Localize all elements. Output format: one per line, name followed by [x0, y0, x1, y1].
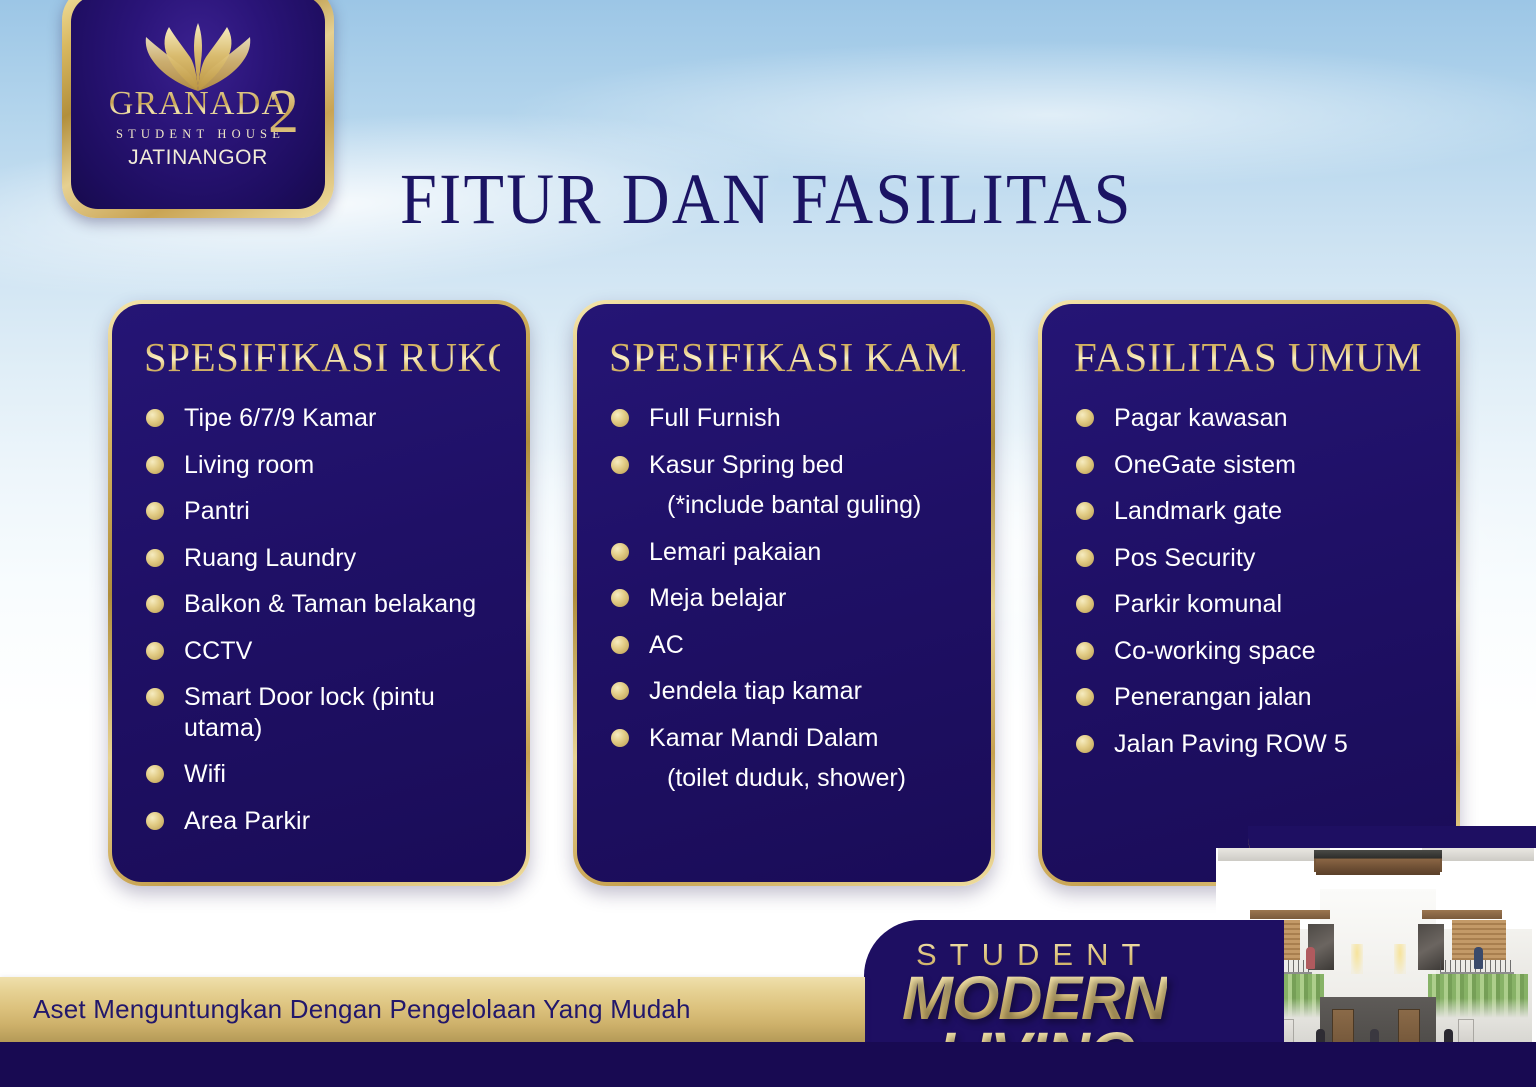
bullet-dot-icon	[146, 765, 164, 783]
list-item: Living room	[138, 450, 500, 481]
list-item-label: Lemari pakaian	[649, 537, 821, 568]
bullet-dot-icon	[146, 642, 164, 660]
bullet-dot-icon	[146, 812, 164, 830]
list-item: Ruang Laundry	[138, 543, 500, 574]
list-item-label: Kasur Spring bed	[649, 450, 844, 481]
bullet-dot-icon	[611, 456, 629, 474]
bullet-dot-icon	[611, 682, 629, 700]
list-item-label: Wifi	[184, 759, 226, 790]
brand-number: 2	[268, 81, 299, 143]
brand-name: GRANADA	[109, 87, 287, 121]
list-item-label: Jendela tiap kamar	[649, 676, 862, 707]
list-item-label: Meja belajar	[649, 583, 786, 614]
card-item-list: Pagar kawasan OneGate sistem Landmark ga…	[1068, 403, 1430, 759]
bullet-dot-icon	[611, 409, 629, 427]
list-item: Pos Security	[1068, 543, 1430, 574]
list-item-label: Kamar Mandi Dalam	[649, 723, 879, 754]
page-title: FITUR DAN FASILITAS	[400, 158, 1133, 241]
list-item: Jalan Paving ROW 5	[1068, 729, 1430, 760]
list-item-note: (toilet duduk, shower)	[667, 763, 965, 794]
card-item-list: Tipe 6/7/9 Kamar Living room Pantri Ruan…	[138, 403, 500, 836]
list-item: Pantri	[138, 496, 500, 527]
list-item: Tipe 6/7/9 Kamar	[138, 403, 500, 434]
list-item: Pagar kawasan	[1068, 403, 1430, 434]
list-item: Penerangan jalan	[1068, 682, 1430, 713]
render-wall-lamp	[1351, 944, 1363, 974]
tagline-banner: Aset Menguntungkan Dengan Pengelolaan Ya…	[0, 977, 865, 1042]
list-item: Parkir komunal	[1068, 589, 1430, 620]
list-item: Area Parkir	[138, 806, 500, 837]
list-item: AC	[603, 630, 965, 661]
render-right-vines	[1428, 974, 1528, 1018]
list-item-note: (*include bantal guling)	[667, 490, 965, 521]
list-item-label: Full Furnish	[649, 403, 781, 434]
list-item-label: Tipe 6/7/9 Kamar	[184, 403, 376, 434]
card-body: FASILITAS UMUM Pagar kawasan OneGate sis…	[1042, 304, 1456, 882]
list-item: Balkon & Taman belakang	[138, 589, 500, 620]
list-item-label: Smart Door lock (pintu utama)	[184, 682, 500, 743]
bullet-dot-icon	[1076, 688, 1094, 706]
render-wall-lamp	[1394, 944, 1406, 974]
list-item-label: Pantri	[184, 496, 250, 527]
list-item: Smart Door lock (pintu utama)	[138, 682, 500, 743]
list-item: Kasur Spring bed	[603, 450, 965, 481]
bullet-dot-icon	[1076, 642, 1094, 660]
card-title: SPESIFIKASI RUKOS	[144, 336, 500, 379]
bullet-dot-icon	[611, 636, 629, 654]
slide-canvas: GRANADA STUDENT HOUSE JATINANGOR 2 FITUR…	[0, 0, 1536, 1087]
list-item-label: Balkon & Taman belakang	[184, 589, 476, 620]
list-item: Full Furnish	[603, 403, 965, 434]
bullet-dot-icon	[146, 502, 164, 520]
card-body: SPESIFIKASI KAMAR Full Furnish Kasur Spr…	[577, 304, 991, 882]
list-item: Lemari pakaian	[603, 537, 965, 568]
gold-lotus-feather-emblem	[133, 17, 263, 93]
list-item: Meja belajar	[603, 583, 965, 614]
card-title: FASILITAS UMUM	[1074, 336, 1430, 379]
list-item: Wifi	[138, 759, 500, 790]
brand-city: JATINANGOR	[71, 147, 325, 168]
render-left-awning	[1250, 910, 1330, 919]
list-item-label: Jalan Paving ROW 5	[1114, 729, 1348, 760]
bullet-dot-icon	[1076, 735, 1094, 753]
list-item: CCTV	[138, 636, 500, 667]
bullet-dot-icon	[611, 729, 629, 747]
bullet-dot-icon	[146, 456, 164, 474]
list-item: Kamar Mandi Dalam	[603, 723, 965, 754]
list-item-label: Living room	[184, 450, 314, 481]
list-item: Co-working space	[1068, 636, 1430, 667]
card-item-list: Full Furnish Kasur Spring bed (*include …	[603, 403, 965, 794]
list-item-label: Ruang Laundry	[184, 543, 356, 574]
bullet-dot-icon	[146, 595, 164, 613]
card-body: SPESIFIKASI RUKOS Tipe 6/7/9 Kamar Livin…	[112, 304, 526, 882]
tagline-text: Aset Menguntungkan Dengan Pengelolaan Ya…	[33, 994, 691, 1025]
list-item-label: Pagar kawasan	[1114, 403, 1288, 434]
bullet-dot-icon	[1076, 409, 1094, 427]
brand-logo-panel: GRANADA STUDENT HOUSE JATINANGOR 2	[71, 0, 325, 209]
list-item-label: CCTV	[184, 636, 252, 667]
bullet-dot-icon	[1076, 502, 1094, 520]
list-item-label: OneGate sistem	[1114, 450, 1296, 481]
list-item-label: Landmark gate	[1114, 496, 1282, 527]
bullet-dot-icon	[611, 589, 629, 607]
bullet-dot-icon	[1076, 549, 1094, 567]
list-item: OneGate sistem	[1068, 450, 1430, 481]
list-item: Landmark gate	[1068, 496, 1430, 527]
card-spesifikasi-kamar: SPESIFIKASI KAMAR Full Furnish Kasur Spr…	[573, 300, 995, 886]
list-item: Jendela tiap kamar	[603, 676, 965, 707]
bullet-dot-icon	[611, 543, 629, 561]
list-item-label: AC	[649, 630, 684, 661]
list-item-label: Parkir komunal	[1114, 589, 1282, 620]
render-person	[1474, 947, 1483, 969]
card-spesifikasi-rukos: SPESIFIKASI RUKOS Tipe 6/7/9 Kamar Livin…	[108, 300, 530, 886]
card-fasilitas-umum: FASILITAS UMUM Pagar kawasan OneGate sis…	[1038, 300, 1460, 886]
list-item-label: Penerangan jalan	[1114, 682, 1312, 713]
card-title: SPESIFIKASI KAMAR	[609, 336, 965, 379]
list-item-label: Area Parkir	[184, 806, 310, 837]
list-item-label: Co-working space	[1114, 636, 1316, 667]
render-canopy-wood	[1316, 859, 1440, 875]
brand-logo-badge: GRANADA STUDENT HOUSE JATINANGOR 2	[62, 0, 334, 218]
feature-cards-row: SPESIFIKASI RUKOS Tipe 6/7/9 Kamar Livin…	[108, 300, 1460, 886]
bottom-navy-strip	[0, 1042, 1536, 1087]
render-right-awning	[1422, 910, 1502, 919]
bullet-dot-icon	[1076, 595, 1094, 613]
bullet-dot-icon	[146, 549, 164, 567]
bullet-dot-icon	[1076, 456, 1094, 474]
bullet-dot-icon	[146, 688, 164, 706]
list-item-label: Pos Security	[1114, 543, 1256, 574]
render-person	[1306, 947, 1315, 969]
bullet-dot-icon	[146, 409, 164, 427]
